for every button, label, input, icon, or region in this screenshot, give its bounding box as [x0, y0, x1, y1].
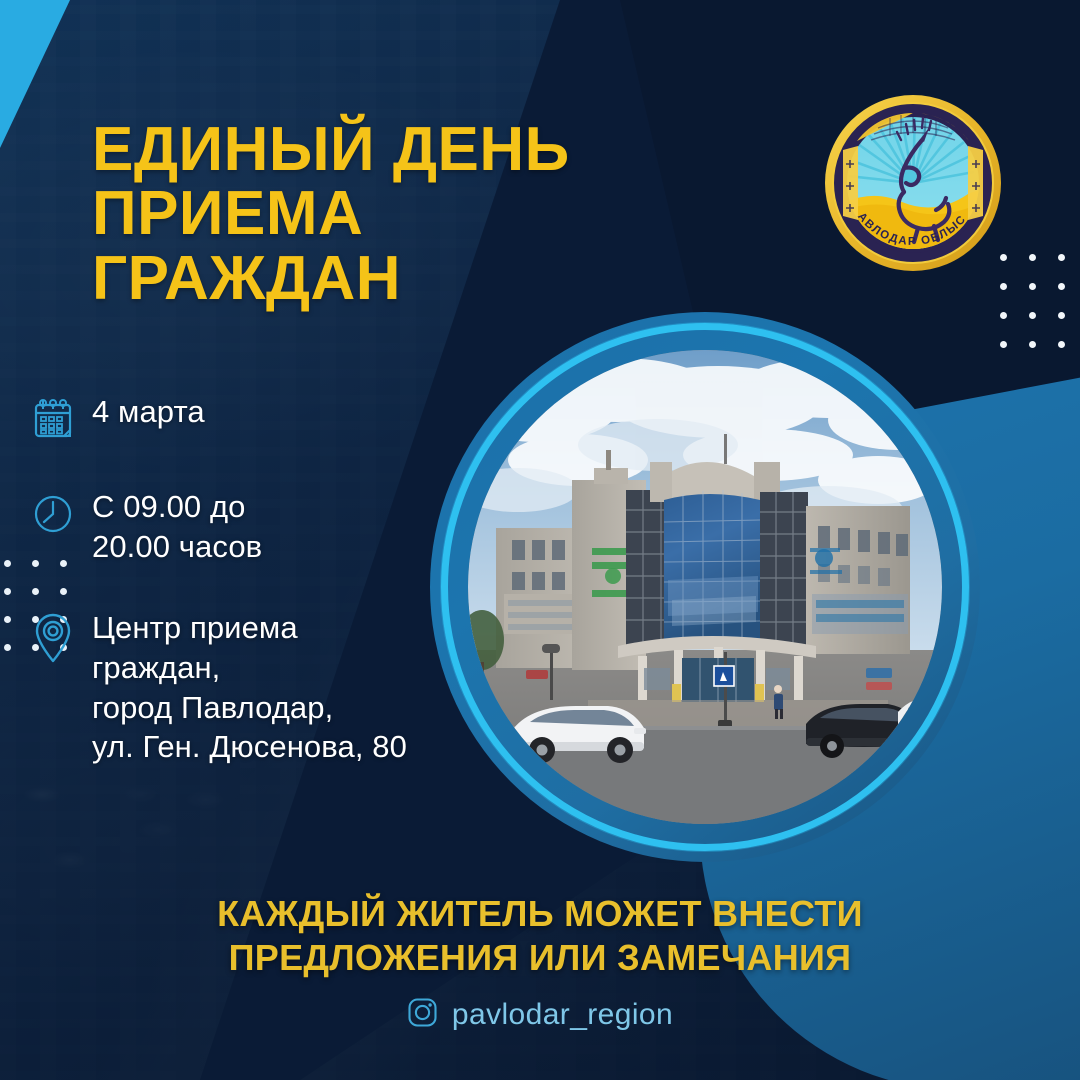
calendar-icon — [30, 392, 92, 447]
poster-canvas: ПАВЛОДАР ОБЛЫСЫ ЕДИНЫЙ ДЕНЬПРИЕМАГРАЖДАН — [0, 0, 1080, 1080]
detail-time-line-1: 20.00 часов — [92, 527, 262, 567]
detail-location-line-1: граждан, — [92, 648, 407, 688]
grid-dot — [1029, 254, 1036, 261]
slogan-line-0: КАЖДЫЙ ЖИТЕЛЬ МОЖЕТ ВНЕСТИ — [0, 892, 1080, 936]
headline-line-2: ГРАЖДАН — [92, 247, 712, 311]
grid-dot — [1000, 312, 1007, 319]
location-pin-icon — [30, 608, 92, 669]
grid-dot — [1000, 283, 1007, 290]
detail-row-date: 4 марта — [30, 392, 500, 447]
headline-line-0: ЕДИНЫЙ ДЕНЬ — [92, 118, 712, 182]
detail-row-location: Центр приемаграждан,город Павлодар,ул. Г… — [30, 608, 500, 767]
social-handle[interactable]: pavlodar_region — [0, 997, 1080, 1033]
detail-location-line-0: Центр приема — [92, 608, 407, 648]
grid-dot — [1058, 341, 1065, 348]
grid-dot — [1058, 312, 1065, 319]
instagram-icon — [407, 997, 438, 1033]
detail-location-line-3: ул. Ген. Дюсенова, 80 — [92, 727, 407, 767]
detail-location-text: Центр приемаграждан,город Павлодар,ул. Г… — [92, 608, 407, 767]
detail-date-line-0: 4 марта — [92, 392, 205, 432]
grid-dot — [4, 616, 11, 623]
event-details: 4 марта С 09.00 до20.00 часов Центр прие… — [30, 392, 500, 791]
headline-line-1: ПРИЕМА — [92, 182, 712, 246]
grid-dot — [1029, 341, 1036, 348]
detail-location-line-2: город Павлодар, — [92, 688, 407, 728]
clock-icon — [30, 487, 92, 542]
grid-dot — [1058, 283, 1065, 290]
grid-dot — [1029, 312, 1036, 319]
detail-date-text: 4 марта — [92, 392, 205, 432]
instagram-handle-text: pavlodar_region — [452, 998, 673, 1032]
grid-dot — [1029, 283, 1036, 290]
grid-dot — [4, 588, 11, 595]
detail-time-text: С 09.00 до20.00 часов — [92, 487, 262, 566]
grid-dot — [4, 560, 11, 567]
slogan-line-1: ПРЕДЛОЖЕНИЯ ИЛИ ЗАМЕЧАНИЯ — [0, 936, 1080, 980]
grid-dot — [4, 644, 11, 651]
citizen-reception-center-photo — [468, 350, 942, 824]
detail-row-time: С 09.00 до20.00 часов — [30, 487, 500, 566]
grid-dot — [1058, 254, 1065, 261]
detail-time-line-0: С 09.00 до — [92, 487, 262, 527]
page-title: ЕДИНЫЙ ДЕНЬПРИЕМАГРАЖДАН — [92, 118, 712, 311]
call-to-action-slogan: КАЖДЫЙ ЖИТЕЛЬ МОЖЕТ ВНЕСТИПРЕДЛОЖЕНИЯ ИЛ… — [0, 892, 1080, 980]
pavlodar-region-emblem: ПАВЛОДАР ОБЛЫСЫ — [818, 88, 1008, 278]
grid-dot — [1000, 341, 1007, 348]
